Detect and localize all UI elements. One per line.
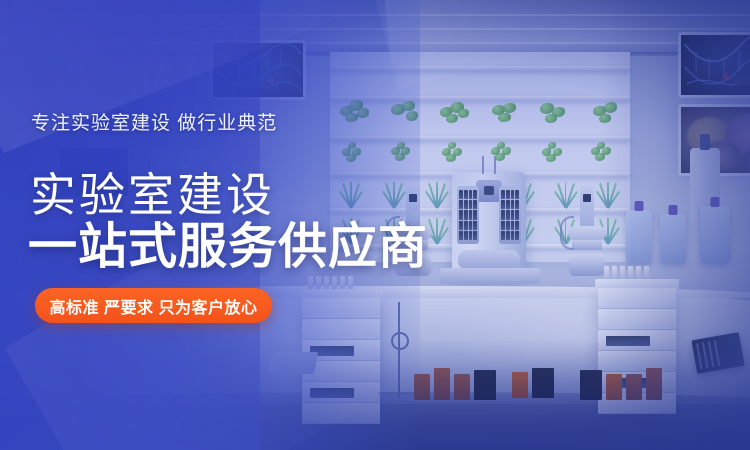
banner-slogan-text: 高标准 严要求 只为客户放心 (50, 294, 258, 318)
banner-copy: 专注实验室建设 做行业典范 实验室建设 一站式服务供应商 高标准 严要求 只为客… (0, 0, 420, 450)
hero-banner: 专注实验室建设 做行业典范 实验室建设 一站式服务供应商 高标准 严要求 只为客… (0, 0, 750, 450)
banner-slogan-badge[interactable]: 高标准 严要求 只为客户放心 (35, 288, 272, 323)
banner-eyebrow: 专注实验室建设 做行业典范 (31, 108, 277, 135)
banner-heading-line1: 实验室建设 (30, 170, 275, 220)
banner-heading-line2: 一站式服务供应商 (28, 220, 428, 274)
